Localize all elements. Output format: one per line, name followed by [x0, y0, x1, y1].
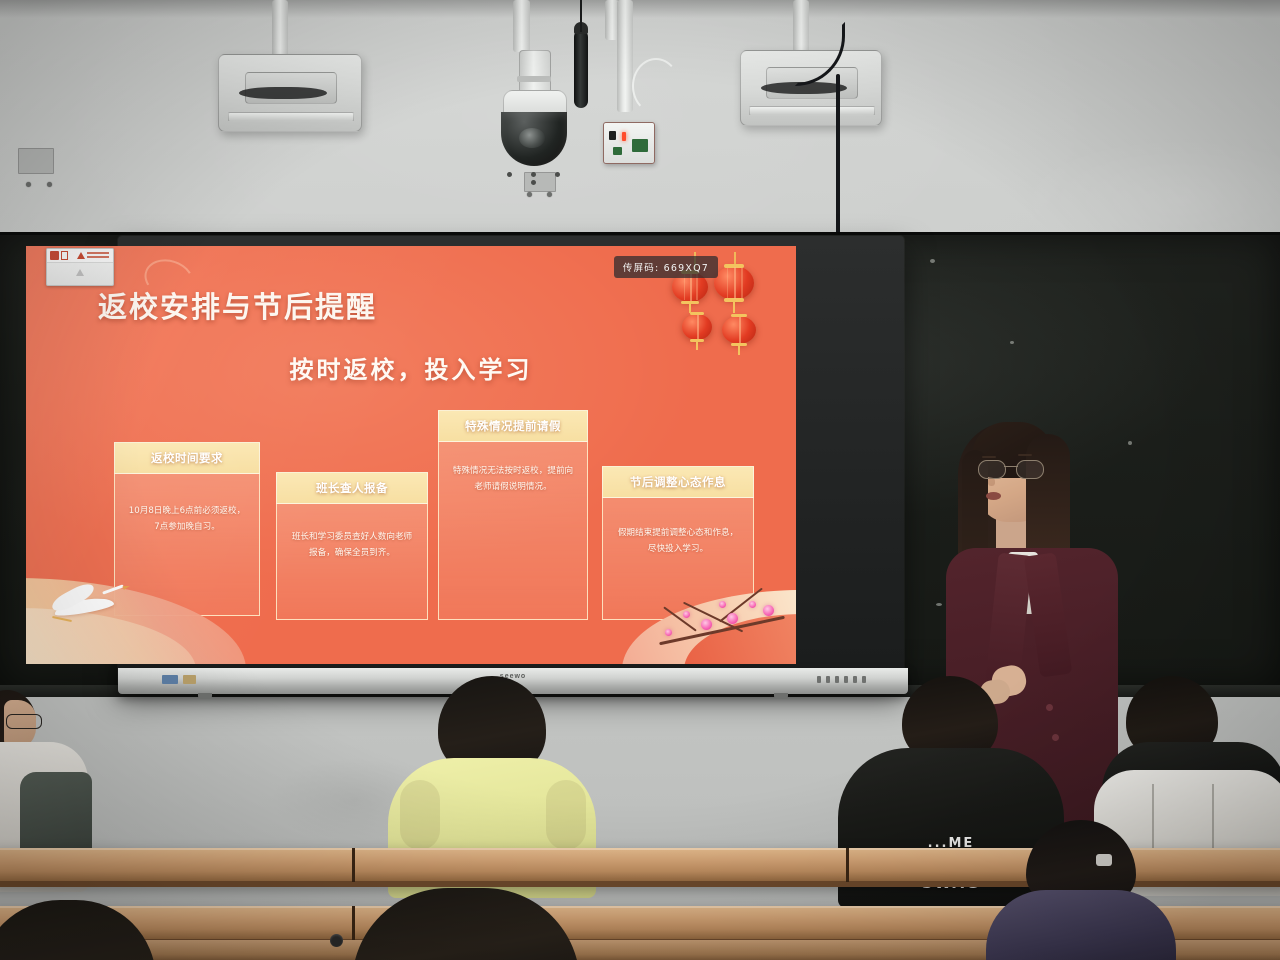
speaker-lip — [749, 106, 874, 116]
lantern — [682, 314, 712, 340]
shoulder-shadow — [400, 780, 440, 850]
shoulder-shadow — [546, 780, 586, 850]
wall-screw — [47, 182, 52, 187]
speaker-cable — [239, 87, 327, 99]
mount-pole — [513, 0, 530, 52]
plum-blossom — [665, 629, 672, 636]
classroom-scene: 传屏码: 669XQ7 返校安排与节后提醒 按时返校，投入学习 返校时间要求 1… — [0, 0, 1280, 960]
power-button[interactable] — [817, 676, 821, 683]
lantern — [722, 316, 756, 344]
wall-screw — [547, 192, 552, 197]
menu-button[interactable] — [826, 676, 830, 683]
camera-bolts — [507, 172, 561, 182]
display-mount-foot — [198, 693, 212, 699]
plum-blossom — [749, 601, 756, 608]
lantern — [714, 266, 754, 300]
play-icon[interactable] — [77, 252, 85, 259]
board-component — [609, 131, 616, 140]
eyebrow — [1018, 454, 1032, 456]
plum-blossom — [719, 601, 726, 608]
eyeglasses — [978, 460, 1044, 478]
hdmi-port[interactable] — [162, 675, 178, 684]
screen-toolbar-watermark[interactable] — [46, 248, 114, 286]
plum-blossom — [763, 605, 774, 616]
display-screen[interactable]: 传屏码: 669XQ7 返校安排与节后提醒 按时返校，投入学习 返校时间要求 1… — [26, 246, 796, 664]
wall-screw — [527, 192, 532, 197]
student-front-row-dark-hair — [352, 888, 582, 960]
student-near-left-dark — [0, 886, 160, 960]
student-purple-jacket — [986, 820, 1176, 960]
usb-port[interactable] — [183, 675, 196, 684]
desk-seam — [352, 848, 355, 882]
chalk-mark — [930, 259, 935, 263]
toolbar-text-lines — [87, 252, 109, 254]
wall-screw — [26, 182, 31, 187]
display-mount-foot — [774, 693, 788, 699]
status-led — [622, 132, 626, 141]
head — [0, 900, 156, 960]
camera-lens — [519, 128, 545, 148]
record-icon[interactable] — [50, 251, 59, 260]
presentation-slide[interactable]: 传屏码: 669XQ7 返校安排与节后提醒 按时返校，投入学习 返校时间要求 1… — [26, 246, 796, 664]
glasses-lens — [978, 460, 1006, 479]
head — [352, 888, 580, 960]
eyebrow — [982, 456, 996, 458]
wall-plate — [18, 148, 54, 174]
slide-title: 返校安排与节后提醒 — [98, 284, 377, 326]
plum-blossom — [727, 613, 738, 624]
glasses-lens — [1016, 460, 1044, 479]
eyeglasses — [6, 714, 42, 729]
mount-pole — [617, 0, 633, 112]
slide-card: 特殊情况提前请假 特殊情况无法按时返校，提前向老师请假说明情况。 — [438, 410, 588, 622]
wall-speaker-left — [218, 54, 362, 132]
slide-card: 班长查人报备 班长和学习委员查好人数向老师报备，确保全员到齐。 — [276, 472, 428, 622]
nose — [988, 478, 995, 486]
hair-clip — [1096, 854, 1112, 866]
plum-blossom — [683, 611, 690, 618]
card-heading: 返校时间要求 — [114, 442, 260, 474]
cast-code-badge: 传屏码: 669XQ7 — [614, 256, 718, 278]
card-heading: 特殊情况提前请假 — [438, 410, 588, 442]
card-body: 班长和学习委员查好人数向老师报备，确保全员到齐。 — [276, 504, 428, 620]
desk-bolt — [330, 934, 343, 947]
speaker-lip — [228, 112, 355, 122]
card-heading: 节后调整心态作息 — [602, 466, 754, 498]
glasses-bridge — [1004, 466, 1018, 467]
chalk-mark — [1010, 341, 1014, 344]
mount-pole — [272, 0, 288, 62]
microphone-wire — [580, 0, 582, 32]
board-chip — [632, 139, 648, 152]
white-crane-icon — [48, 586, 126, 622]
board-chip — [613, 147, 622, 155]
plum-blossom — [701, 619, 712, 630]
card-body: 特殊情况无法按时返校，提前向老师请假说明情况。 — [438, 442, 588, 620]
slide-subtitle: 按时返校，投入学习 — [26, 350, 796, 385]
card-heading: 班长查人报备 — [276, 472, 428, 504]
stop-icon[interactable] — [61, 251, 68, 260]
mouth — [986, 492, 1001, 500]
ptz-dome-camera — [493, 50, 577, 186]
camera-band — [517, 76, 551, 82]
ceiling-microphone — [574, 30, 588, 108]
desk-seam — [846, 848, 849, 882]
display-ports[interactable] — [162, 675, 196, 684]
jacket — [986, 890, 1176, 960]
white-cable — [632, 58, 680, 114]
ceiling-shadow — [0, 0, 1280, 18]
chevron-up-icon[interactable] — [76, 269, 84, 276]
control-board — [603, 122, 655, 164]
